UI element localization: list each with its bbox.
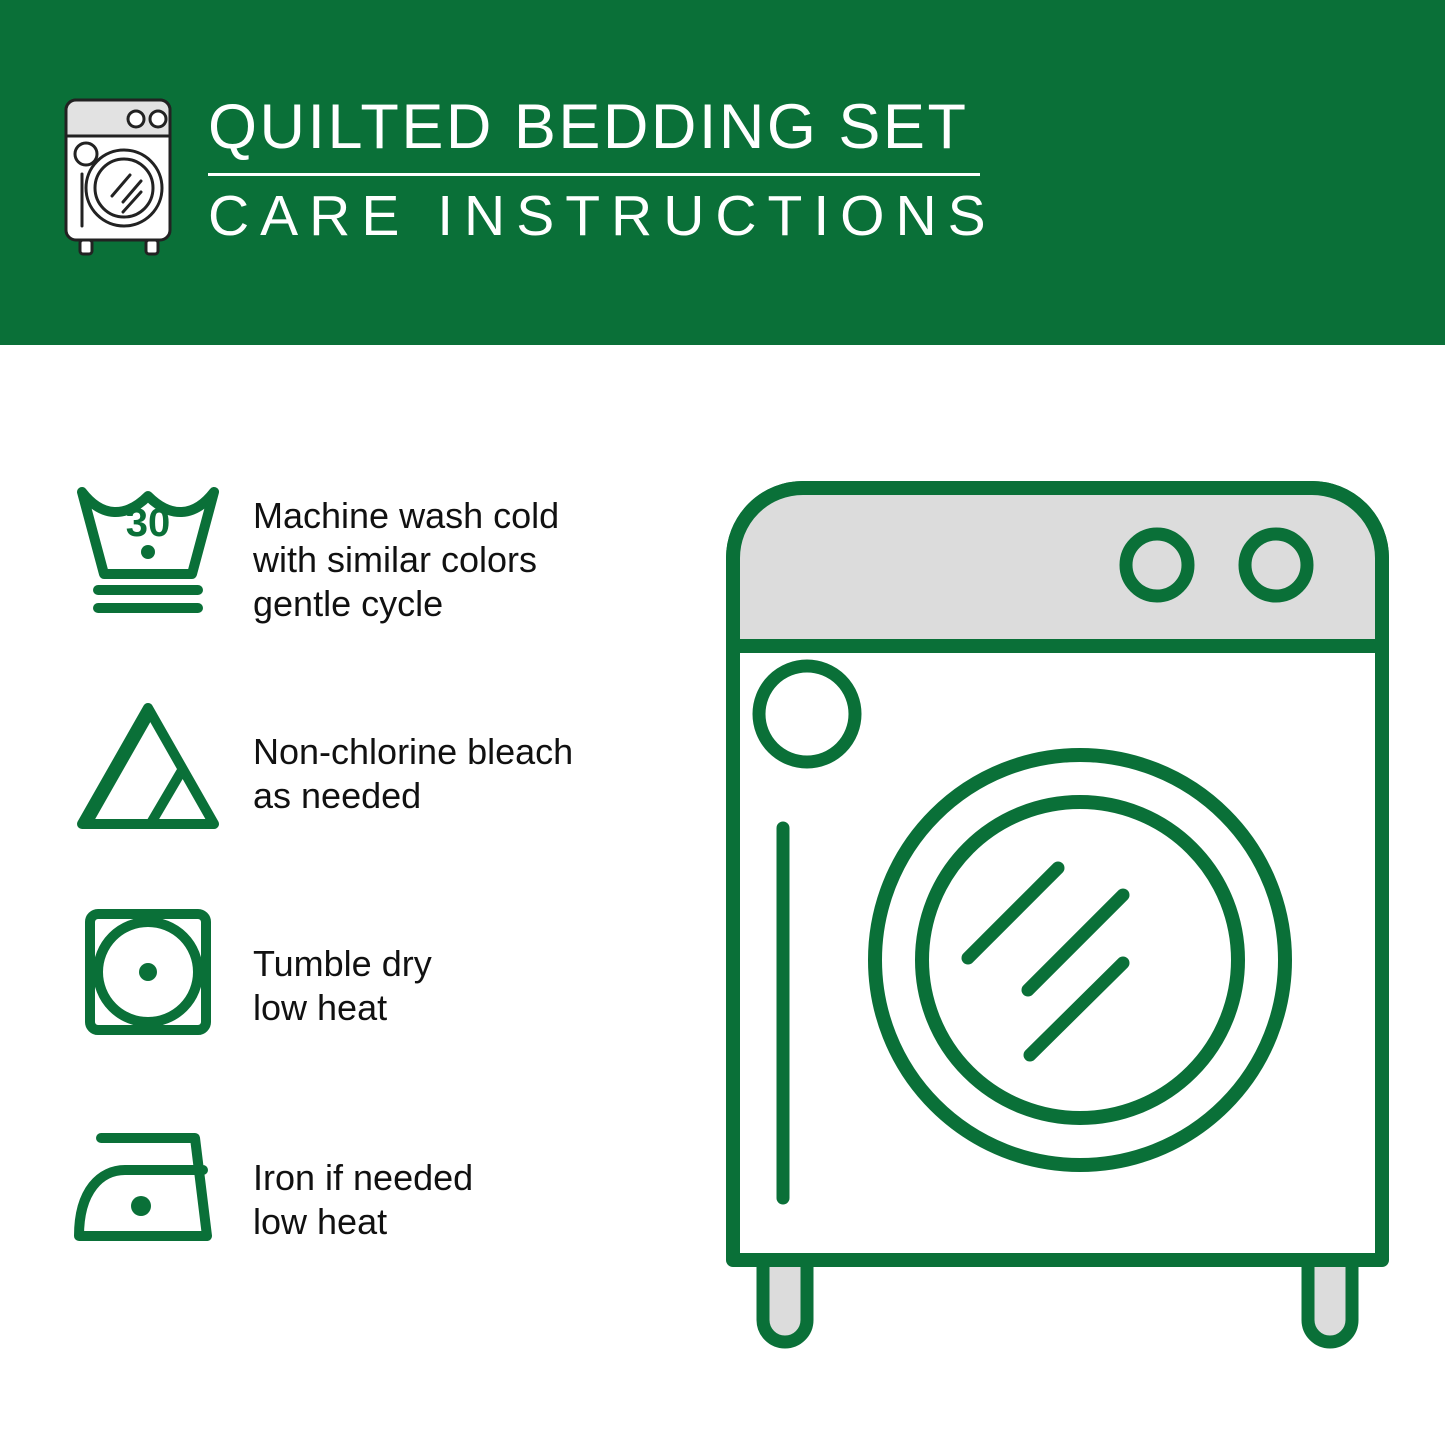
instruction-line: low heat [253, 986, 700, 1030]
instruction-text-bleach: Non-chlorine bleach as needed [235, 680, 700, 818]
care-instruction-list: 30 Machine wash cold with similar colors… [60, 470, 700, 1310]
washing-machine-icon [60, 92, 180, 257]
instruction-line: with similar colors [253, 538, 700, 582]
instruction-line: Machine wash cold [253, 494, 700, 538]
header-content: QUILTED BEDDING SET CARE INSTRUCTIONS [60, 92, 1020, 267]
instruction-text-wash: Machine wash cold with similar colors ge… [235, 470, 700, 626]
knob-left [1126, 534, 1188, 596]
care-instructions-page: QUILTED BEDDING SET CARE INSTRUCTIONS 30 [0, 0, 1445, 1445]
header-divider-rule [208, 173, 980, 176]
instruction-line: low heat [253, 1200, 700, 1244]
instruction-line: Iron if needed [253, 1156, 700, 1200]
instruction-line: gentle cycle [253, 582, 700, 626]
iron-low-heat-icon [60, 1100, 235, 1297]
page-title: QUILTED BEDDING SET [208, 96, 1020, 159]
list-item: 30 Machine wash cold with similar colors… [60, 470, 700, 680]
instruction-text-iron: Iron if needed low heat [235, 1100, 700, 1244]
list-item: Iron if needed low heat [60, 1100, 700, 1310]
detergent-dispenser [759, 666, 855, 762]
list-item: Tumble dry low heat [60, 890, 700, 1100]
page-subtitle: CARE INSTRUCTIONS [208, 188, 1020, 245]
non-chlorine-bleach-triangle-icon [60, 680, 235, 869]
wash-basin-30-gentle-icon: 30 [60, 470, 235, 645]
list-item: Non-chlorine bleach as needed [60, 680, 700, 890]
instruction-text-dry: Tumble dry low heat [235, 890, 700, 1030]
knob-right [1245, 534, 1307, 596]
tumble-dry-low-icon [60, 890, 235, 1077]
instruction-line: Tumble dry [253, 942, 700, 986]
header-text-block: QUILTED BEDDING SET CARE INSTRUCTIONS [208, 92, 1020, 245]
instruction-line: Non-chlorine bleach [253, 730, 700, 774]
front-load-washing-machine-illustration [725, 480, 1390, 1370]
header-band: QUILTED BEDDING SET CARE INSTRUCTIONS [0, 0, 1445, 345]
instruction-line: as needed [253, 774, 700, 818]
wash-temperature-label: 30 [125, 501, 170, 545]
